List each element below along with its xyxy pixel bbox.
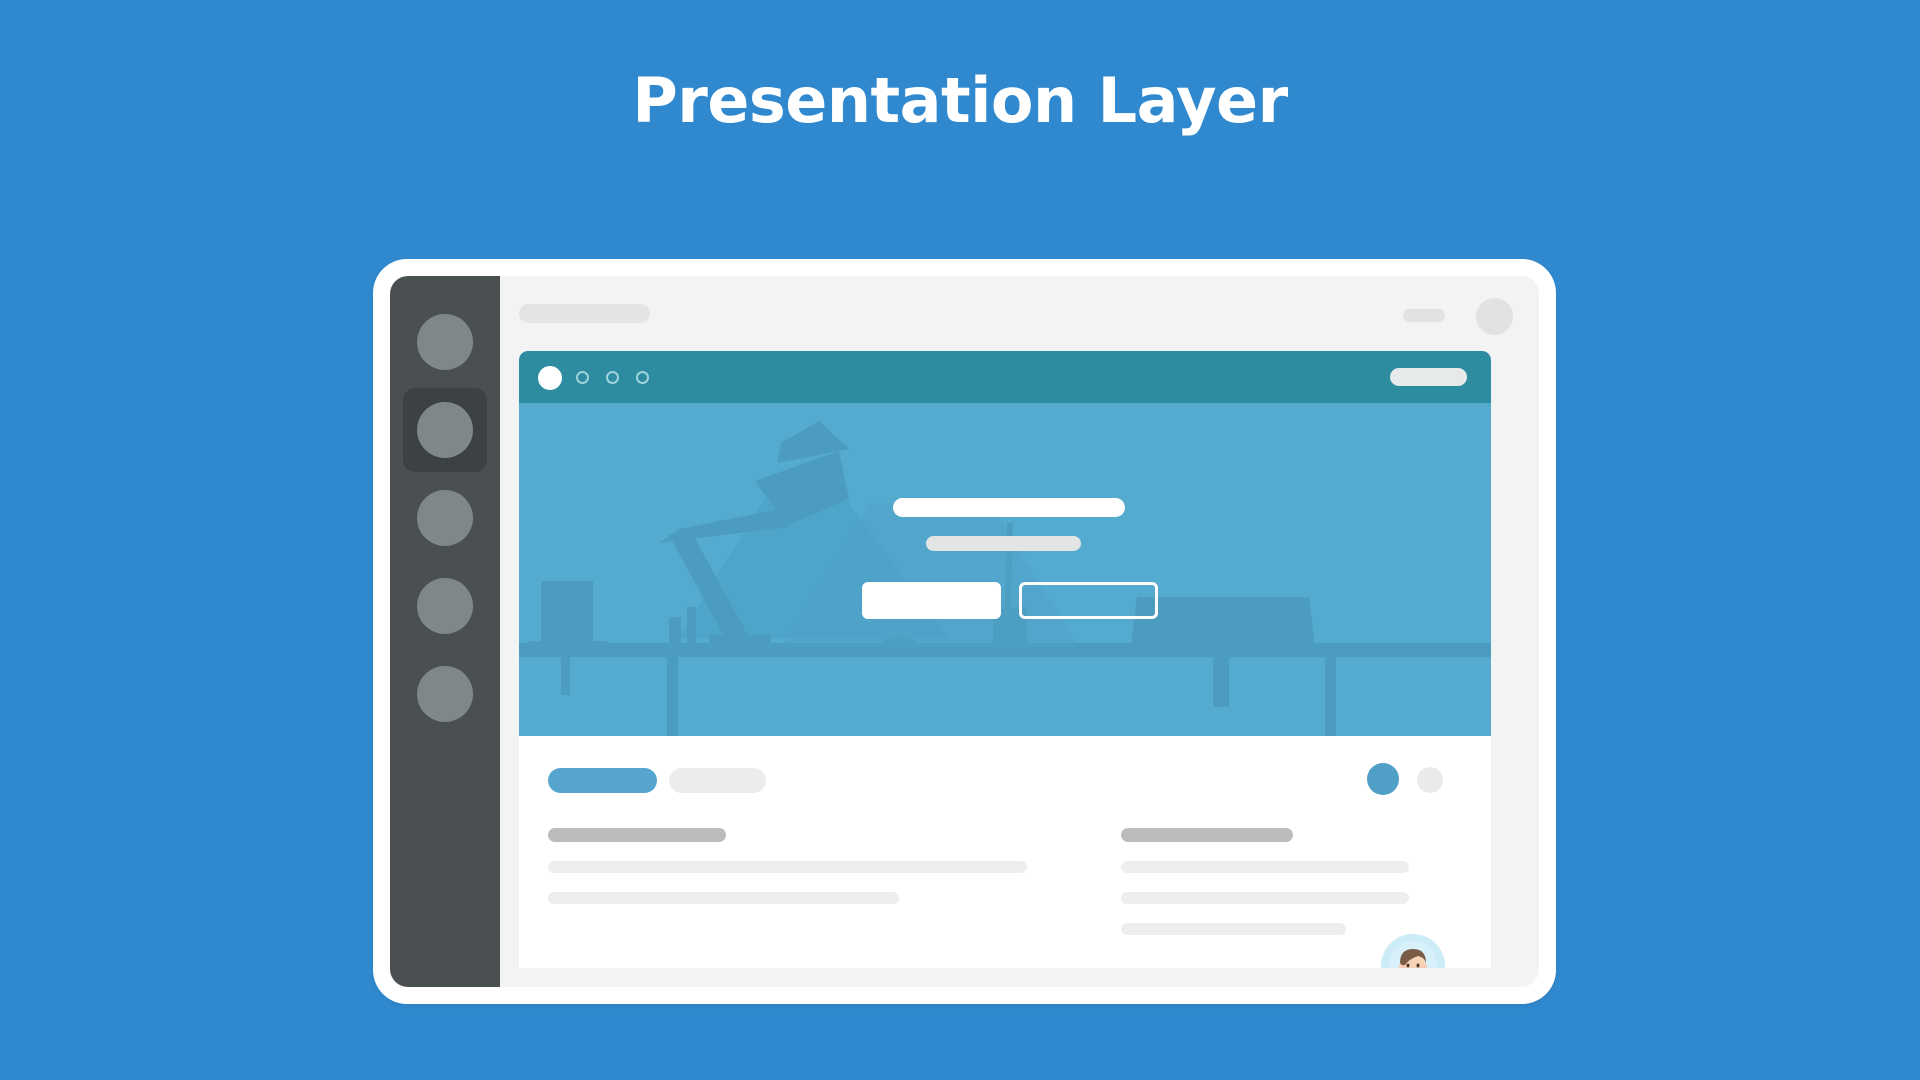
browser-dot-outline-icon[interactable]: [576, 371, 589, 384]
browser-window: [519, 351, 1491, 968]
app-topbar: [500, 276, 1539, 351]
right-column-line: [1121, 861, 1409, 873]
page-title: Presentation Layer: [0, 64, 1920, 137]
tab-inactive[interactable]: [669, 768, 766, 793]
nav-circle-icon: [417, 578, 473, 634]
app-title-placeholder: [519, 304, 650, 323]
hero-primary-button[interactable]: [862, 582, 1001, 619]
sidebar-item-4[interactable]: [390, 650, 500, 738]
left-text-column: [548, 828, 1028, 904]
tablet-device-mockup: [373, 259, 1556, 1004]
sidebar-item-3[interactable]: [390, 562, 500, 650]
browser-dot-outline-icon[interactable]: [636, 371, 649, 384]
user-avatar-icon[interactable]: [1381, 934, 1445, 968]
right-column-line: [1121, 923, 1346, 935]
sidebar-item-1-active[interactable]: [390, 386, 500, 474]
right-column-line: [1121, 892, 1409, 904]
hero-content: [519, 403, 1491, 736]
sidebar-item-0[interactable]: [390, 298, 500, 386]
app-main-area: [500, 276, 1539, 987]
right-column-heading-placeholder: [1121, 828, 1293, 842]
browser-dot-outline-icon[interactable]: [606, 371, 619, 384]
right-text-column: [1121, 828, 1411, 935]
hero-secondary-button[interactable]: [1019, 582, 1158, 619]
device-screen: [390, 276, 1539, 987]
hero-headline-placeholder: [893, 498, 1125, 517]
nav-circle-icon: [417, 490, 473, 546]
app-sidebar: [390, 276, 500, 987]
tab-active[interactable]: [548, 768, 657, 793]
left-column-heading-placeholder: [548, 828, 726, 842]
minimize-dash-icon[interactable]: [1403, 309, 1445, 322]
nav-circle-icon: [417, 402, 473, 458]
browser-dot-filled-icon[interactable]: [538, 366, 562, 390]
nav-circle-icon: [417, 666, 473, 722]
hero-banner: [519, 403, 1491, 736]
left-column-line: [548, 861, 1027, 873]
hero-subheadline-placeholder: [926, 536, 1081, 551]
pagination-dot-active[interactable]: [1367, 763, 1399, 795]
browser-titlebar: [519, 351, 1491, 403]
content-section: [519, 736, 1491, 968]
nav-circle-icon: [417, 314, 473, 370]
browser-address-bar[interactable]: [1390, 368, 1467, 386]
account-circle-icon[interactable]: [1476, 298, 1513, 335]
left-column-line: [548, 892, 899, 904]
sidebar-item-2[interactable]: [390, 474, 500, 562]
pagination-dot-inactive[interactable]: [1417, 767, 1443, 793]
